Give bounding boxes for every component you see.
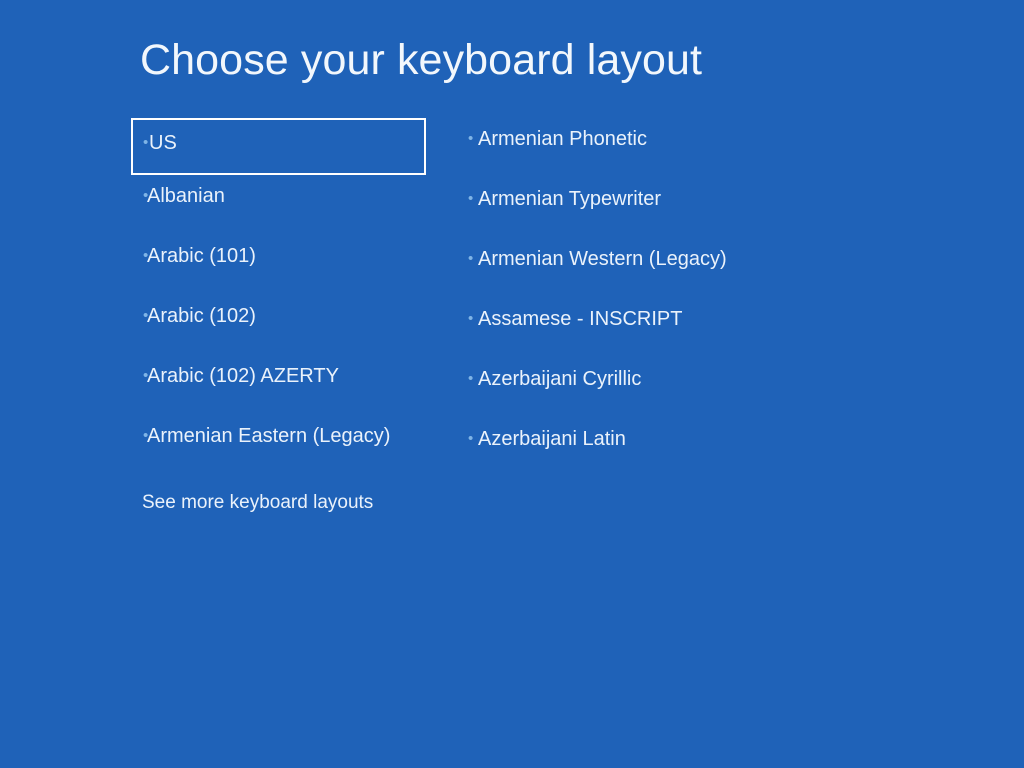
layout-option-albanian[interactable]: • Albanian bbox=[131, 175, 451, 235]
keyboard-layout-screen: Choose your keyboard layout • US • Alban… bbox=[0, 0, 1024, 768]
layout-option-armenian-eastern-legacy[interactable]: • Armenian Eastern (Legacy) bbox=[131, 415, 451, 475]
layout-option-label: Albanian bbox=[147, 183, 225, 209]
bullet-icon: • bbox=[131, 183, 147, 209]
layout-option-label: Armenian Phonetic bbox=[478, 126, 647, 152]
keyboard-layout-column-left: • US • Albanian • Arabic (101) • Arabic … bbox=[131, 118, 451, 475]
layout-option-us[interactable]: • US bbox=[131, 118, 426, 175]
bullet-icon: • bbox=[131, 363, 147, 389]
page-title: Choose your keyboard layout bbox=[140, 36, 702, 85]
layout-option-armenian-western-legacy[interactable]: • Armenian Western (Legacy) bbox=[462, 238, 862, 298]
bullet-icon: • bbox=[462, 306, 478, 332]
bullet-icon: • bbox=[133, 130, 149, 156]
layout-option-label: Assamese - INSCRIPT bbox=[478, 306, 682, 332]
layout-option-label: Armenian Western (Legacy) bbox=[478, 246, 727, 272]
bullet-icon: • bbox=[131, 423, 147, 449]
bullet-icon: • bbox=[462, 186, 478, 212]
layout-option-label: Arabic (101) bbox=[147, 243, 256, 269]
layout-option-label: Armenian Eastern (Legacy) bbox=[147, 423, 390, 449]
bullet-icon: • bbox=[462, 426, 478, 452]
layout-option-label: US bbox=[149, 130, 177, 156]
layout-option-assamese-inscript[interactable]: • Assamese - INSCRIPT bbox=[462, 298, 862, 358]
bullet-icon: • bbox=[131, 303, 147, 329]
layout-option-arabic-101[interactable]: • Arabic (101) bbox=[131, 235, 451, 295]
bullet-icon: • bbox=[462, 246, 478, 272]
layout-option-armenian-phonetic[interactable]: • Armenian Phonetic bbox=[462, 118, 862, 178]
bullet-icon: • bbox=[462, 366, 478, 392]
layout-option-armenian-typewriter[interactable]: • Armenian Typewriter bbox=[462, 178, 862, 238]
keyboard-layout-column-right: • Armenian Phonetic • Armenian Typewrite… bbox=[462, 118, 862, 478]
bullet-icon: • bbox=[131, 243, 147, 269]
layout-option-arabic-102[interactable]: • Arabic (102) bbox=[131, 295, 451, 355]
layout-option-arabic-102-azerty[interactable]: • Arabic (102) AZERTY bbox=[131, 355, 451, 415]
layout-option-label: Azerbaijani Latin bbox=[478, 426, 626, 452]
layout-option-label: Armenian Typewriter bbox=[478, 186, 661, 212]
layout-option-label: Arabic (102) AZERTY bbox=[147, 363, 339, 389]
see-more-keyboard-layouts-link[interactable]: See more keyboard layouts bbox=[142, 492, 373, 514]
layout-option-azerbaijani-cyrillic[interactable]: • Azerbaijani Cyrillic bbox=[462, 358, 862, 418]
bullet-icon: • bbox=[462, 126, 478, 152]
layout-option-azerbaijani-latin[interactable]: • Azerbaijani Latin bbox=[462, 418, 862, 478]
layout-option-label: Arabic (102) bbox=[147, 303, 256, 329]
layout-option-label: Azerbaijani Cyrillic bbox=[478, 366, 641, 392]
